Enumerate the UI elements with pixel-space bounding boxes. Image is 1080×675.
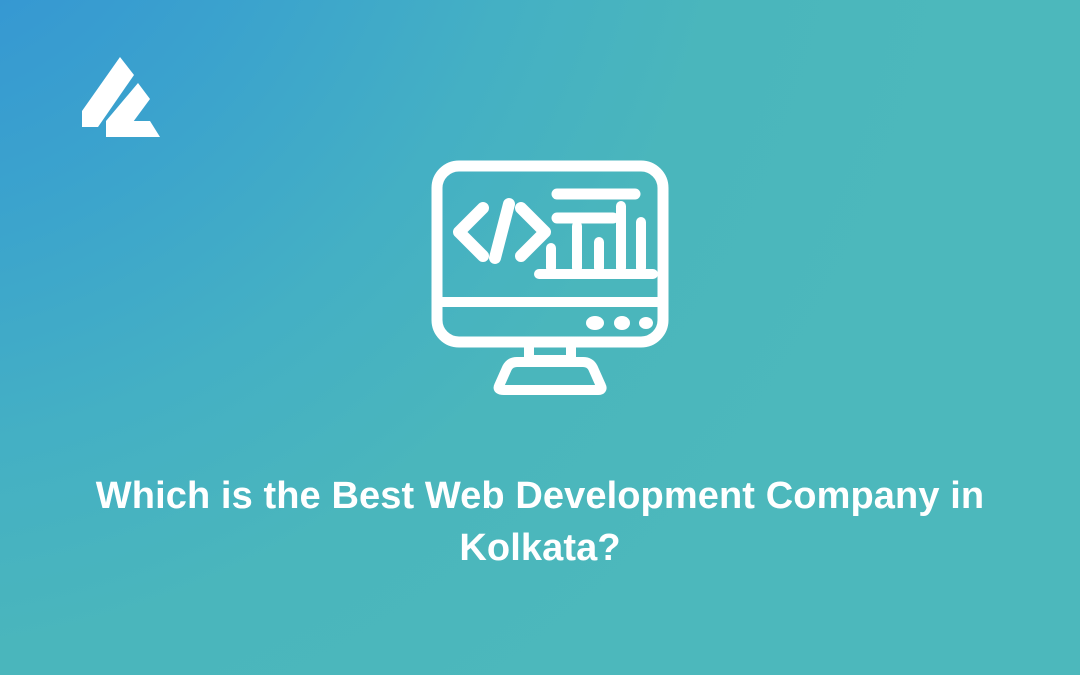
brand-logo[interactable] [76, 55, 162, 147]
page-title: Which is the Best Web Development Compan… [60, 470, 1020, 574]
banner-background: Which is the Best Web Development Compan… [0, 0, 1080, 675]
page-title-line-2: Kolkata? [60, 522, 1020, 574]
code-symbol-icon [459, 204, 545, 258]
monitor-illustration [427, 156, 673, 396]
status-dots-icon [586, 316, 653, 330]
web-development-monitor-icon [427, 156, 673, 396]
page-title-line-1: Which is the Best Web Development Compan… [60, 470, 1020, 522]
monitor-stand-base-icon [499, 362, 602, 390]
angular-l-monogram-logo-icon [76, 55, 162, 147]
